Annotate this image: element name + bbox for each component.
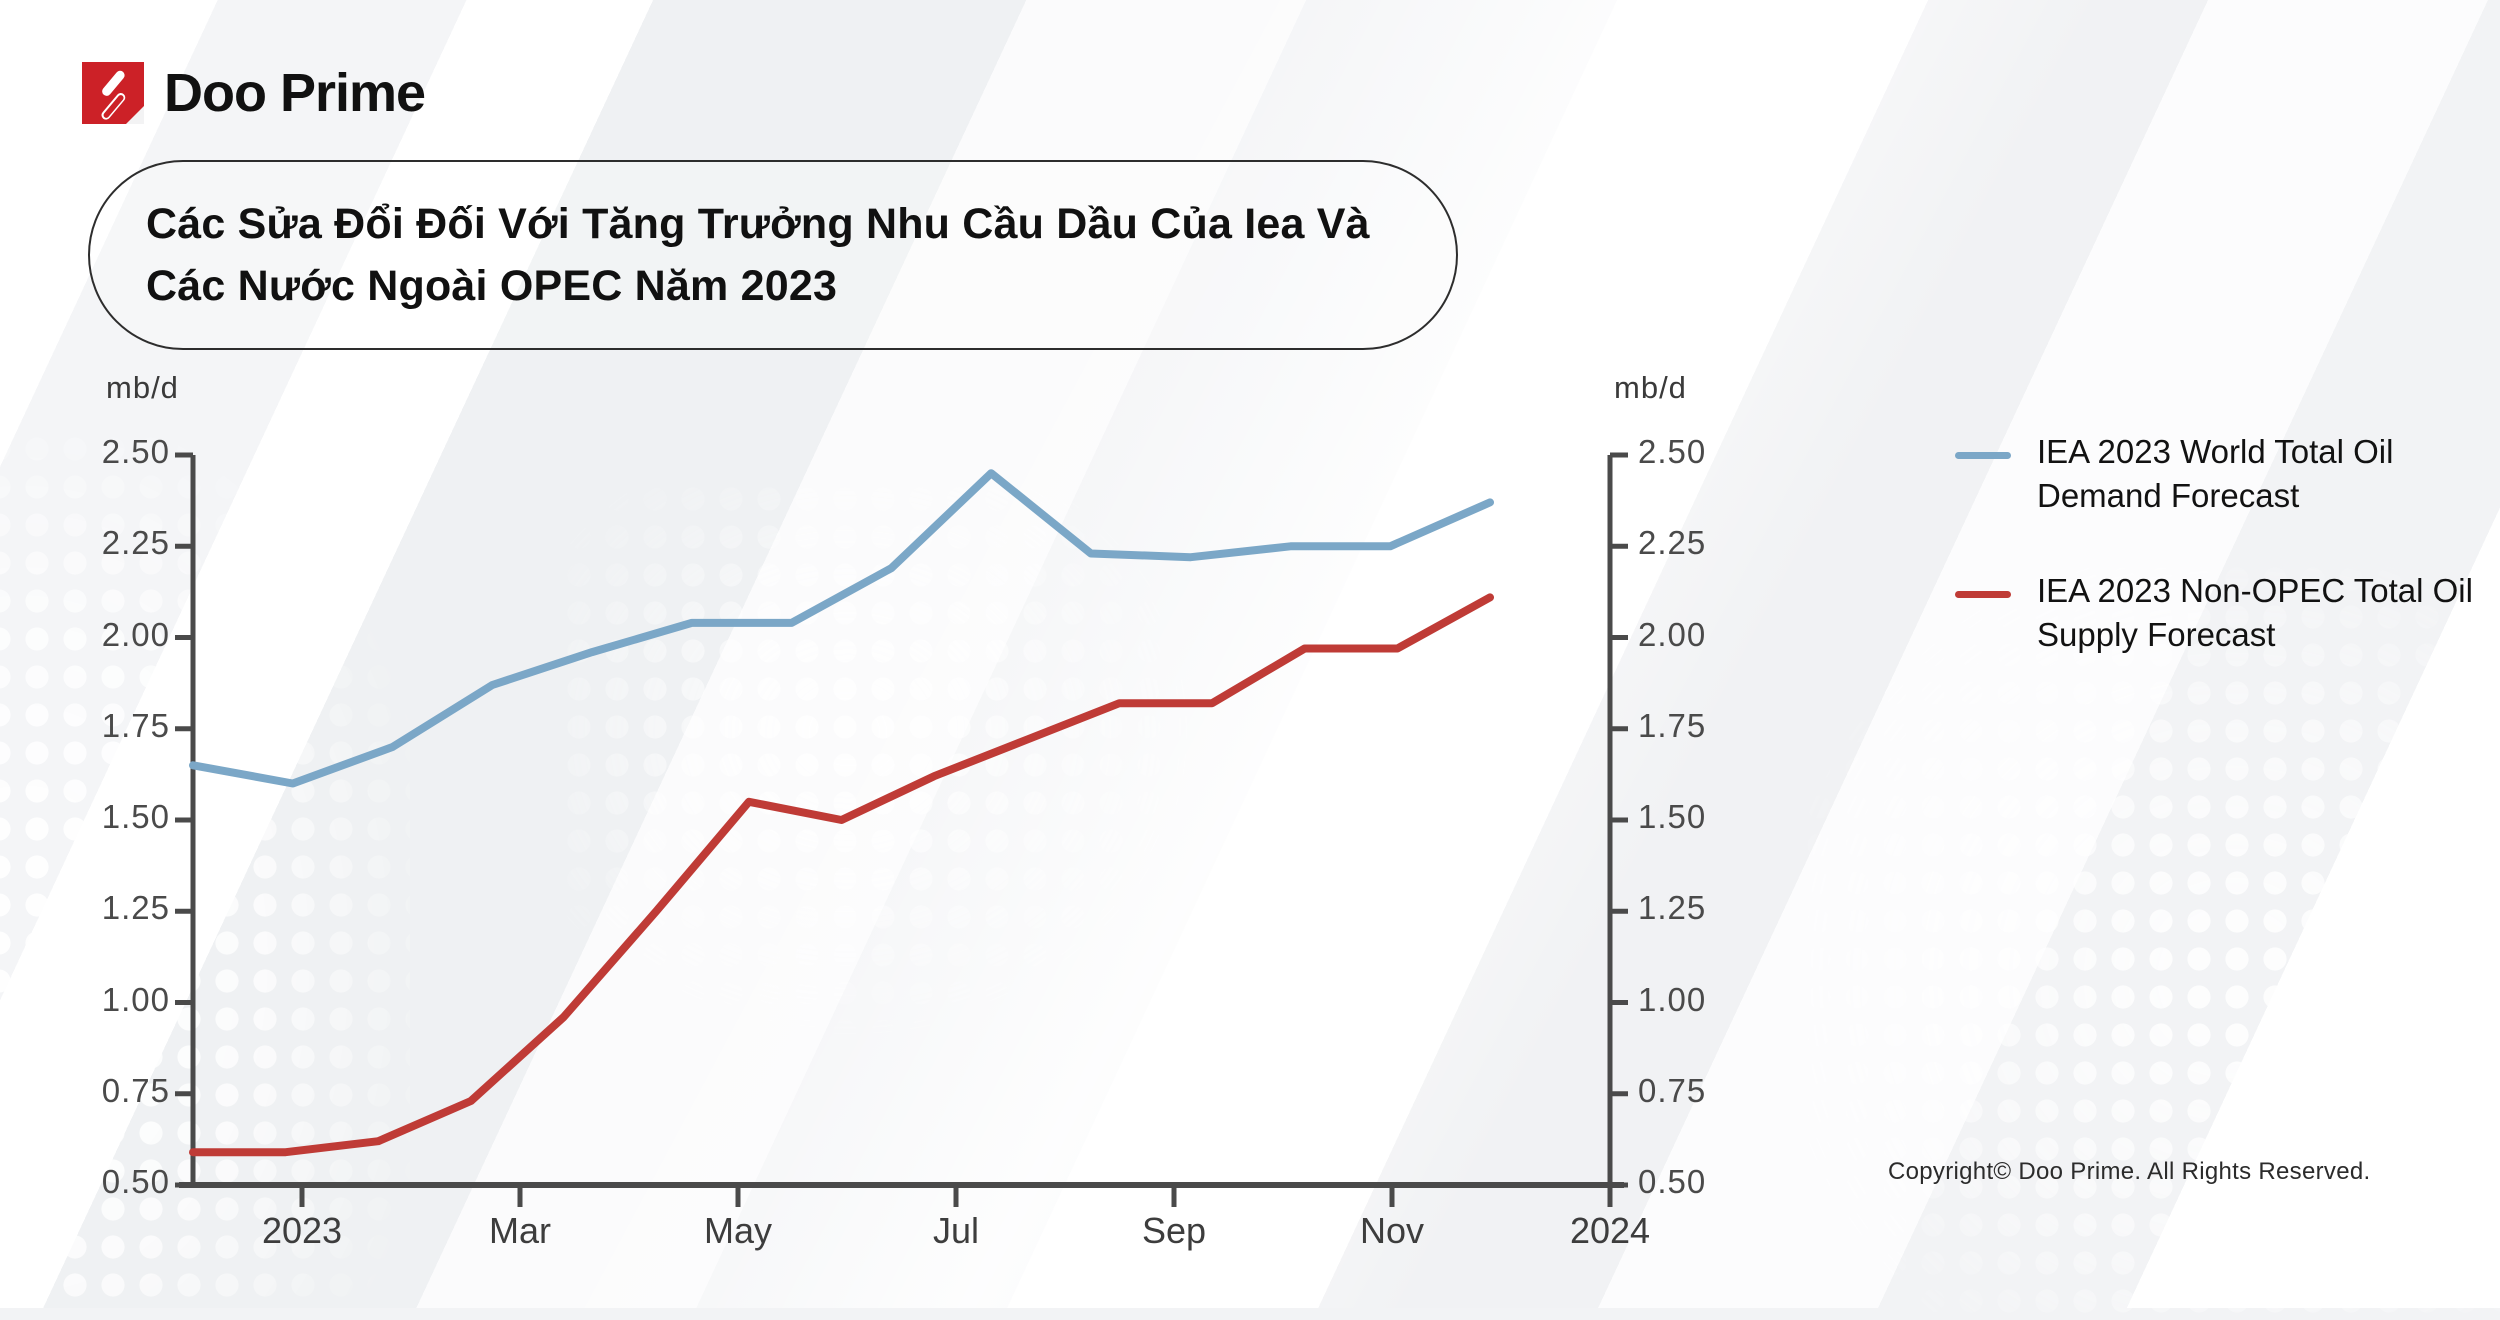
legend-item-label: IEA 2023 Non-OPEC Total Oil Supply Forec… [2037,569,2475,656]
legend-swatch-icon [1955,591,2011,598]
legend-swatch-icon [1955,452,2011,459]
legend-item[interactable]: IEA 2023 Non-OPEC Total Oil Supply Forec… [1955,569,2475,656]
copyright-notice: Copyright© Doo Prime. All Rights Reserve… [1888,1158,2370,1186]
legend-item[interactable]: IEA 2023 World Total Oil Demand Forecast [1955,430,2475,517]
legend-item-label: IEA 2023 World Total Oil Demand Forecast [2037,430,2475,517]
chart-legend: IEA 2023 World Total Oil Demand Forecast… [1955,430,2475,708]
